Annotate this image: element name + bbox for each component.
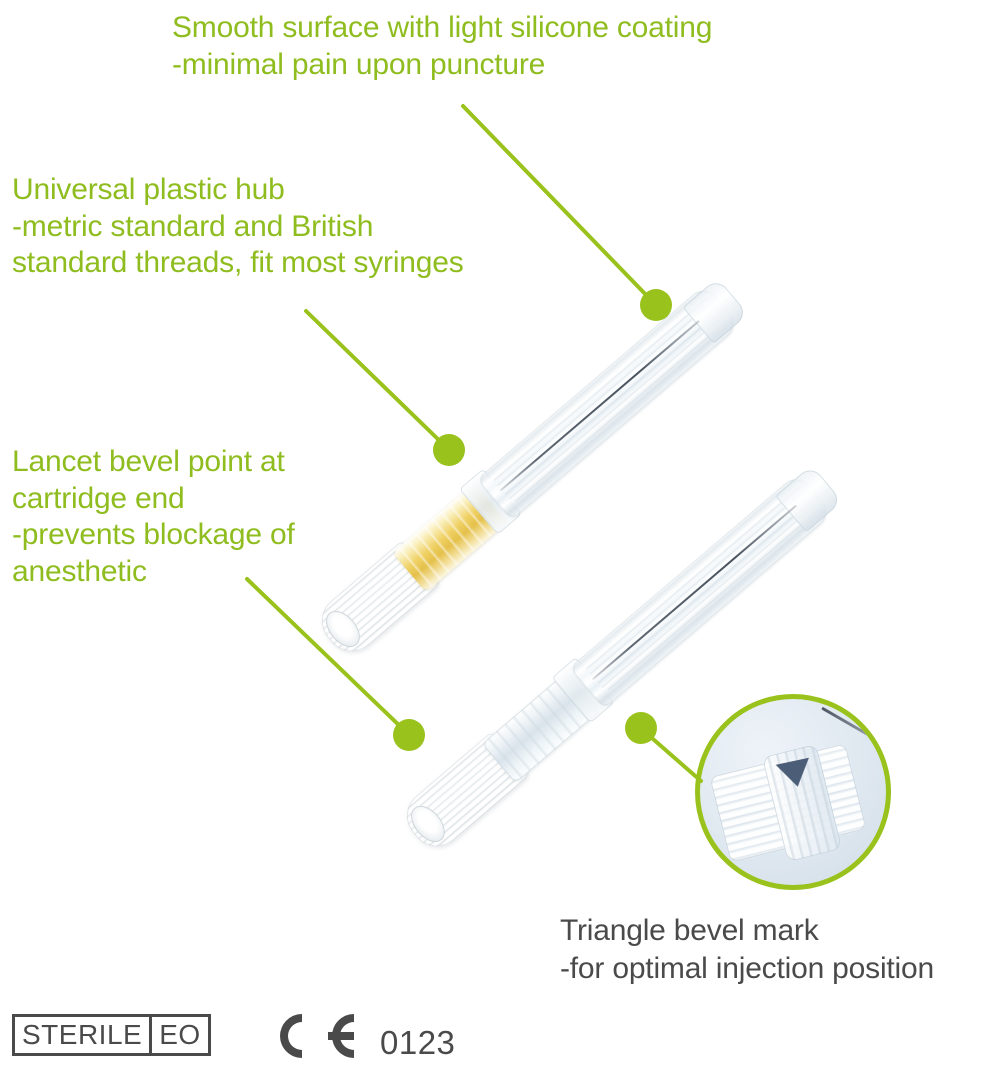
ce-glyph-icon	[262, 1008, 374, 1064]
sterile-method-label: EO	[149, 1017, 207, 1053]
sterile-label: STERILE	[15, 1017, 149, 1053]
infographic-canvas: Smooth surface with light silicone coati…	[0, 0, 1000, 1070]
magnified-bevel-view	[695, 694, 891, 890]
callout-text-universal-hub: Universal plastic hub -metric standard a…	[12, 172, 464, 282]
needle-upper-shaft	[499, 320, 700, 492]
callout-text-smooth-surface: Smooth surface with light silicone coati…	[172, 10, 712, 83]
sterile-eo-symbol: STERILE EO	[12, 1014, 211, 1056]
ce-notified-body-number: 0123	[380, 1024, 455, 1062]
callout-text-triangle-bevel: Triangle bevel mark -for optimal injecti…	[560, 912, 934, 987]
regulatory-symbols: STERILE EO 0123	[0, 1000, 1000, 1070]
callout-text-lancet-bevel: Lancet bevel point at cartridge end -pre…	[12, 444, 295, 590]
ce-mark: 0123	[262, 1008, 455, 1064]
needle-lower-shaft	[592, 505, 797, 681]
